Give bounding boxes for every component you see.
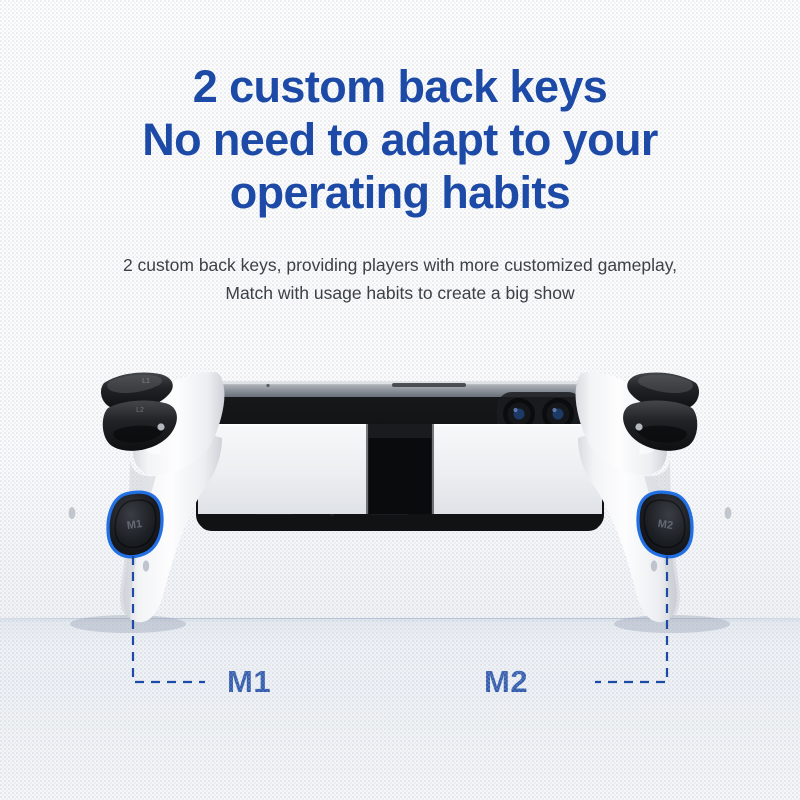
leader-line-m2	[595, 556, 667, 682]
callout-lines	[0, 0, 800, 800]
leader-line-m1	[133, 556, 205, 682]
product-feature-slide: L1 L2	[0, 0, 800, 800]
